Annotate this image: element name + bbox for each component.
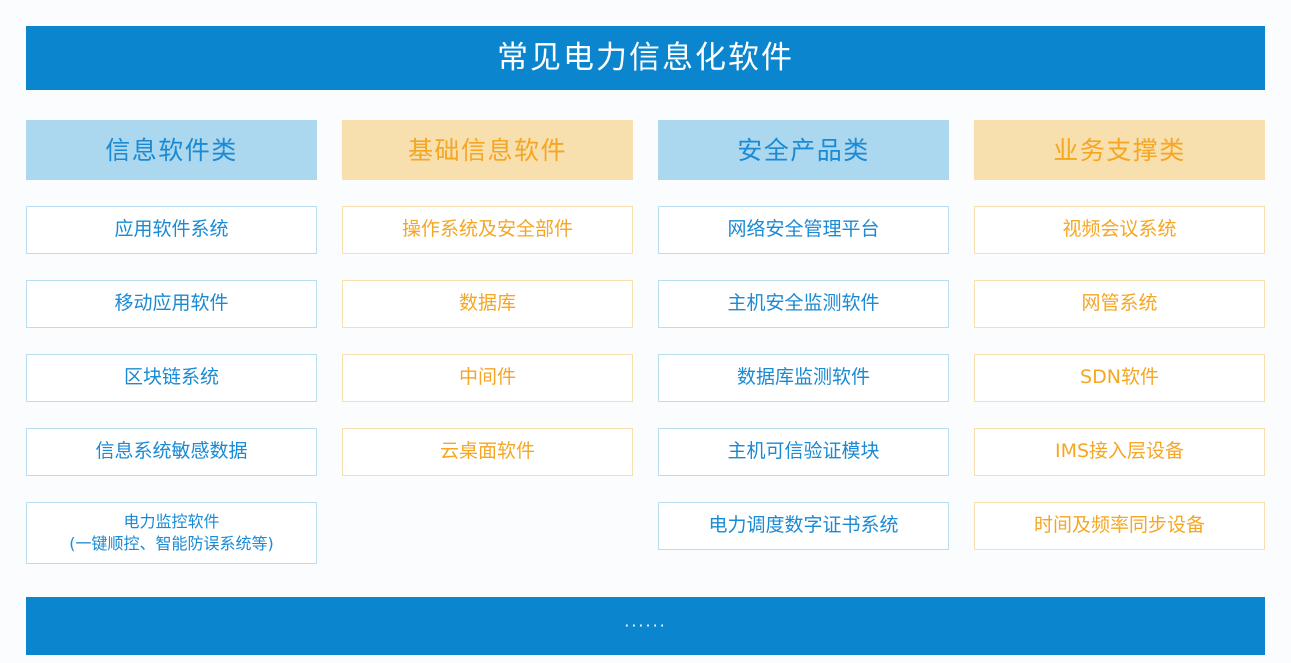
- category-item[interactable]: 网管系统: [974, 280, 1265, 328]
- category-item[interactable]: 主机可信验证模块: [658, 428, 949, 476]
- category-header-info-software[interactable]: 信息软件类: [26, 120, 317, 180]
- category-item[interactable]: 云桌面软件: [342, 428, 633, 476]
- category-item[interactable]: SDN软件: [974, 354, 1265, 402]
- page-title-bar: 常见电力信息化软件: [26, 26, 1265, 90]
- category-item[interactable]: 数据库监测软件: [658, 354, 949, 402]
- category-column-info-software: 信息软件类应用软件系统移动应用软件区块链系统信息系统敏感数据电力监控软件(一键顺…: [26, 120, 317, 590]
- footer-bar: ······: [26, 597, 1265, 655]
- footer-ellipsis: ······: [624, 618, 667, 634]
- category-column-security-products: 安全产品类网络安全管理平台主机安全监测软件数据库监测软件主机可信验证模块电力调度…: [658, 120, 949, 590]
- category-item[interactable]: 主机安全监测软件: [658, 280, 949, 328]
- category-item[interactable]: IMS接入层设备: [974, 428, 1265, 476]
- category-item[interactable]: 中间件: [342, 354, 633, 402]
- page-title: 常见电力信息化软件: [497, 43, 794, 74]
- category-item[interactable]: 应用软件系统: [26, 206, 317, 254]
- category-item[interactable]: 移动应用软件: [26, 280, 317, 328]
- category-header-basic-info-software[interactable]: 基础信息软件: [342, 120, 633, 180]
- category-item[interactable]: 电力调度数字证书系统: [658, 502, 949, 550]
- category-header-security-products[interactable]: 安全产品类: [658, 120, 949, 180]
- category-column-business-support: 业务支撑类视频会议系统网管系统SDN软件IMS接入层设备时间及频率同步设备: [974, 120, 1265, 590]
- category-item[interactable]: 区块链系统: [26, 354, 317, 402]
- category-item[interactable]: 数据库: [342, 280, 633, 328]
- category-item[interactable]: 视频会议系统: [974, 206, 1265, 254]
- category-columns: 信息软件类应用软件系统移动应用软件区块链系统信息系统敏感数据电力监控软件(一键顺…: [26, 120, 1265, 590]
- category-item-label-line1: 电力监控软件: [123, 511, 219, 533]
- category-item[interactable]: 网络安全管理平台: [658, 206, 949, 254]
- category-item-label-line2: (一键顺控、智能防误系统等): [69, 533, 274, 555]
- category-column-basic-info-software: 基础信息软件操作系统及安全部件数据库中间件云桌面软件: [342, 120, 633, 590]
- category-item[interactable]: 时间及频率同步设备: [974, 502, 1265, 550]
- category-item[interactable]: 电力监控软件(一键顺控、智能防误系统等): [26, 502, 317, 564]
- category-item[interactable]: 信息系统敏感数据: [26, 428, 317, 476]
- category-header-business-support[interactable]: 业务支撑类: [974, 120, 1265, 180]
- category-item[interactable]: 操作系统及安全部件: [342, 206, 633, 254]
